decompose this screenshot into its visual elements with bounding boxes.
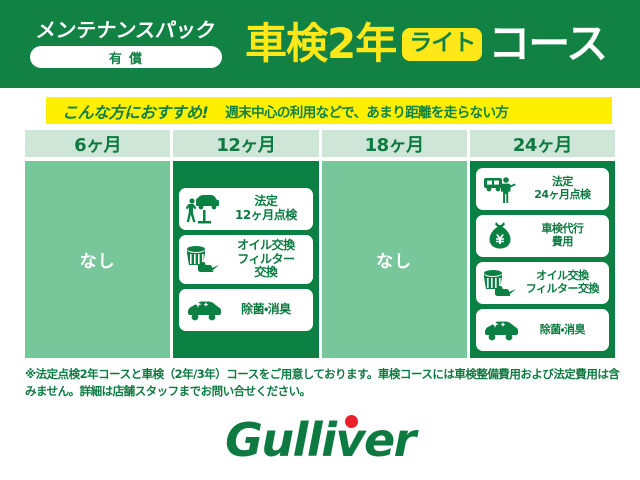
recommendation-heading: こんな方におすすめ! — [62, 99, 208, 123]
no-service-label: なし — [80, 247, 116, 272]
column-body-12months: 法定 12ヶ月点検 オイル交換 フィルター 交換 — [173, 161, 318, 358]
car-inspector-icon — [480, 172, 520, 206]
table-column-12months: 12ヶ月 法定 12ヶ月点検 — [173, 130, 318, 358]
maintenance-pack-title: メンテナンスパック — [34, 20, 216, 41]
service-card[interactable]: 除菌・消臭 — [476, 309, 609, 351]
column-header-18months: 18ヶ月 — [322, 130, 467, 157]
money-bag-icon — [480, 219, 520, 253]
table-column-24months: 24ヶ月 法定 24ヶ月点検 — [470, 130, 615, 358]
car-lift-inspection-icon — [183, 192, 223, 226]
column-header-label: 18ヶ月 — [365, 131, 424, 157]
header-banner: メンテナンスパック 有償 車検2年 ライト コース — [0, 0, 640, 88]
column-body-18months: なし — [322, 161, 467, 358]
car-sanitize-icon — [183, 293, 223, 327]
headline-block: 車検2年 ライト コース — [245, 23, 640, 65]
no-service-label: なし — [376, 247, 412, 272]
column-header-6months: 6ヶ月 — [25, 130, 170, 157]
service-card[interactable]: オイル交換 フィルター交換 — [476, 262, 609, 304]
service-card-label: 法定 12ヶ月点検 — [223, 195, 308, 223]
paid-pill-label: 有償 — [102, 48, 149, 67]
service-card-label: 法定 24ヶ月点検 — [520, 176, 605, 201]
column-header-12months: 12ヶ月 — [173, 130, 318, 157]
maintenance-pack-block: メンテナンスパック 有償 — [18, 20, 233, 68]
service-card[interactable]: オイル交換 フィルター 交換 — [179, 235, 312, 284]
oil-filter-change-icon — [480, 266, 520, 300]
oil-filter-change-icon — [183, 242, 223, 276]
light-course-badge: ライト — [402, 28, 482, 61]
headline-course: コース — [488, 23, 606, 65]
brand-logo: Gulliver — [0, 410, 640, 470]
recommendation-description: 週末中心の利用などで、あまり距離を走らない方 — [225, 101, 508, 121]
column-body-24months: 法定 24ヶ月点検 車検代行 費用 — [470, 161, 615, 358]
column-header-label: 24ヶ月 — [513, 131, 572, 157]
service-card[interactable]: 車検代行 費用 — [476, 215, 609, 257]
table-column-18months: 18ヶ月 なし — [322, 130, 467, 358]
disclaimer-note: ※法定点検2年コースと車検（2年/3年）コースをご用意しております。車検コースに… — [25, 366, 621, 399]
service-card-label: オイル交換 フィルター 交換 — [223, 239, 308, 280]
service-card-label: 除菌・消臭 — [520, 324, 605, 337]
table-column-6months: 6ヶ月 なし — [25, 130, 170, 358]
service-card[interactable]: 法定 24ヶ月点検 — [476, 168, 609, 210]
service-schedule-table: 6ヶ月 なし 12ヶ月 — [25, 130, 615, 358]
column-header-label: 12ヶ月 — [216, 131, 275, 157]
column-header-24months: 24ヶ月 — [470, 130, 615, 157]
service-card-label: オイル交換 フィルター交換 — [520, 270, 605, 295]
column-header-label: 6ヶ月 — [74, 131, 121, 157]
service-card[interactable]: 除菌・消臭 — [179, 289, 312, 331]
gulliver-logo-text: Gulliver — [225, 417, 415, 463]
column-body-6months: なし — [25, 161, 170, 358]
recommendation-bar: こんな方におすすめ! 週末中心の利用などで、あまり距離を走らない方 — [46, 97, 612, 124]
paid-pill-badge: 有償 — [30, 46, 222, 68]
service-card-label: 車検代行 費用 — [520, 223, 605, 248]
car-sanitize-icon — [480, 313, 520, 347]
service-card[interactable]: 法定 12ヶ月点検 — [179, 188, 312, 230]
service-card-label: 除菌・消臭 — [223, 303, 308, 317]
headline-shaken-2year: 車検2年 — [245, 23, 396, 65]
gulliver-wordmark: Gulliver — [225, 413, 415, 467]
